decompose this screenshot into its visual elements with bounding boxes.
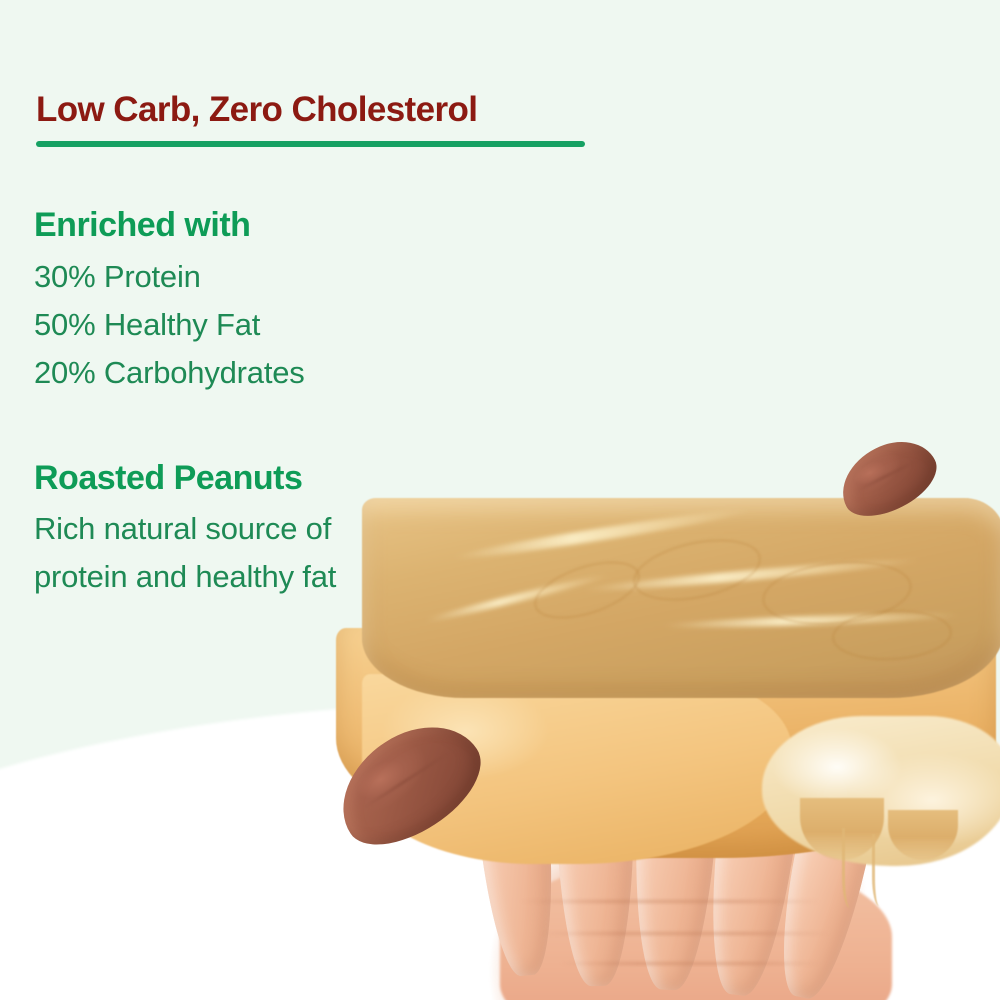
headline-text: Low Carb, Zero Cholesterol [36,90,656,130]
feature-title: Roasted Peanuts [34,457,554,500]
feature-line: protein and healthy fat [34,553,554,601]
feature-line: 20% Carbohydrates [34,349,554,397]
feature-line: 50% Healthy Fat [34,301,554,349]
palm-crease [540,932,830,935]
feature-block-roasted-peanuts: Roasted Peanuts Rich natural source of p… [34,457,554,602]
palm-crease [520,900,820,903]
feature-list: Enriched with 30% Protein 50% Healthy Fa… [34,204,554,601]
product-benefits-poster: Low Carb, Zero Cholesterol Enriched with… [0,0,1000,1000]
palm-crease [560,962,820,965]
feature-line: Rich natural source of [34,505,554,553]
headline-underline [36,141,585,147]
peanut-seam [363,749,454,809]
feature-block-enriched-with: Enriched with 30% Protein 50% Healthy Fa… [34,204,554,397]
feature-line: 30% Protein [34,253,554,301]
headline-block: Low Carb, Zero Cholesterol [36,90,656,147]
spread-thread [872,834,890,906]
feature-title: Enriched with [34,204,554,247]
peanut-seam [856,458,920,492]
spread-thread [842,828,862,908]
